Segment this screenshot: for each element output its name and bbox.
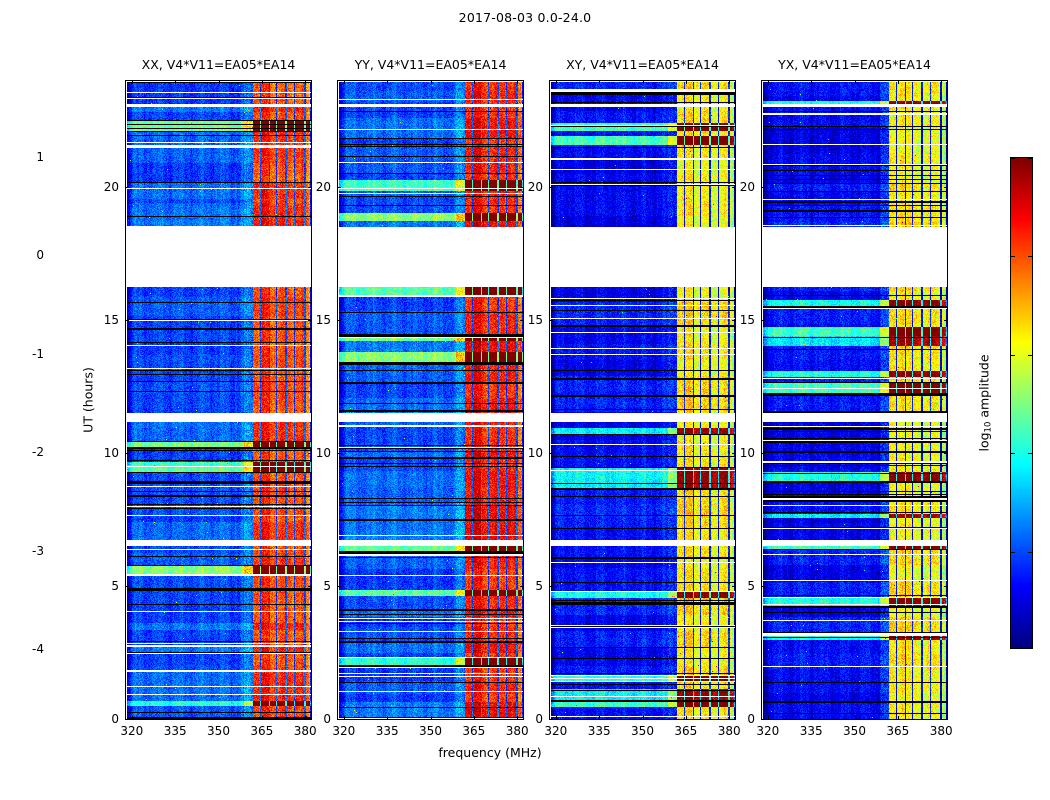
panel-frame-yx[interactable]	[761, 80, 948, 720]
x-axis-label: frequency (MHz)	[0, 745, 1050, 760]
x-axis-tick-label: 365	[674, 724, 697, 738]
colorbar-tick	[1028, 552, 1032, 553]
y-axis-tick	[944, 586, 948, 587]
x-axis-tick-label: 335	[164, 724, 187, 738]
x-axis-tick	[175, 716, 176, 720]
colorbar-tick-label: 0	[36, 248, 44, 262]
y-axis-tick	[337, 586, 341, 587]
colorbar-tick	[1028, 355, 1032, 356]
y-axis-tick-label: 0	[515, 712, 543, 726]
y-axis-tick-label: 0	[91, 712, 119, 726]
x-axis-tick	[599, 80, 600, 84]
panel-xy: XY, V4*V11=EA05*EA14 320335350365380	[549, 80, 736, 720]
colorbar-tick	[1011, 158, 1015, 159]
x-axis-tick	[643, 80, 644, 84]
y-axis-tick-label: 15	[91, 313, 119, 327]
x-axis-tick	[686, 80, 687, 84]
x-axis-tick-label: 320	[120, 724, 143, 738]
y-axis-tick	[125, 187, 129, 188]
x-axis-tick	[556, 716, 557, 720]
colorbar-tick	[1011, 355, 1015, 356]
y-axis-tick-label: 5	[515, 579, 543, 593]
x-axis-tick-label: 320	[544, 724, 567, 738]
x-axis-tick	[686, 716, 687, 720]
x-axis-tick-label: 320	[756, 724, 779, 738]
x-axis-tick-label: 365	[462, 724, 485, 738]
heatmap-image-xx	[127, 82, 312, 720]
y-axis-tick-label: 10	[91, 446, 119, 460]
x-axis-tick	[431, 80, 432, 84]
x-axis-tick-label: 380	[718, 724, 741, 738]
x-axis-tick	[898, 80, 899, 84]
colorbar-gradient	[1011, 158, 1032, 648]
y-axis-tick-label: 15	[303, 313, 331, 327]
colorbar-tick-label: -2	[32, 445, 44, 459]
figure-canvas: 2017-08-03 0.0-24.0 XX, V4*V11=EA05*EA14…	[0, 0, 1050, 800]
x-axis-tick	[262, 716, 263, 720]
x-axis-tick-label: 320	[332, 724, 355, 738]
x-axis-tick	[344, 80, 345, 84]
x-axis-tick	[768, 716, 769, 720]
x-axis-tick	[941, 716, 942, 720]
y-axis-tick-label: 0	[727, 712, 755, 726]
y-axis-tick-label: 20	[515, 180, 543, 194]
x-axis-tick	[344, 716, 345, 720]
x-axis-tick	[811, 80, 812, 84]
x-axis-tick-label: 380	[930, 724, 953, 738]
y-axis-tick	[944, 320, 948, 321]
y-axis-tick	[337, 320, 341, 321]
x-axis-tick	[219, 80, 220, 84]
panel-yx: YX, V4*V11=EA05*EA14 320335350365380	[761, 80, 948, 720]
y-axis-tick-label: 15	[727, 313, 755, 327]
y-axis-tick	[125, 453, 129, 454]
y-axis-tick	[337, 719, 341, 720]
heatmap-image-xy	[551, 82, 736, 720]
y-axis-tick-label: 10	[515, 446, 543, 460]
x-axis-tick	[855, 716, 856, 720]
panel-frame-yy[interactable]	[337, 80, 524, 720]
y-axis-tick	[549, 187, 553, 188]
x-axis-tick-label: 350	[843, 724, 866, 738]
y-axis-tick	[761, 719, 765, 720]
colorbar-tick-label: -4	[32, 642, 44, 656]
y-axis-tick-label: 20	[303, 180, 331, 194]
x-axis-tick	[643, 716, 644, 720]
x-axis-tick	[941, 80, 942, 84]
x-axis-tick-label: 335	[376, 724, 399, 738]
y-axis-tick-label: 10	[303, 446, 331, 460]
x-axis-tick	[811, 716, 812, 720]
x-axis-tick	[175, 80, 176, 84]
x-axis-tick	[132, 716, 133, 720]
y-axis-tick	[337, 453, 341, 454]
panel-title-xy: XY, V4*V11=EA05*EA14	[566, 57, 719, 72]
x-axis-tick	[517, 80, 518, 84]
colorbar-tick	[1028, 453, 1032, 454]
panel-frame-xy[interactable]	[549, 80, 736, 720]
y-axis-tick	[944, 719, 948, 720]
x-axis-tick	[305, 80, 306, 84]
panel-frame-xx[interactable]	[125, 80, 312, 720]
y-axis-label: UT (hours)	[81, 367, 96, 433]
x-axis-tick-label: 350	[207, 724, 230, 738]
y-axis-tick	[125, 586, 129, 587]
heatmap-image-yy	[339, 82, 524, 720]
x-axis-tick	[474, 80, 475, 84]
y-axis-tick	[549, 586, 553, 587]
y-axis-tick-label: 15	[515, 313, 543, 327]
y-axis-tick	[549, 453, 553, 454]
colorbar-tick	[1011, 256, 1015, 257]
panel-title-xx: XX, V4*V11=EA05*EA14	[142, 57, 296, 72]
y-axis-tick-label: 5	[91, 579, 119, 593]
x-axis-tick	[474, 716, 475, 720]
colorbar-tick-label: -3	[32, 544, 44, 558]
colorbar-tick-label: 1	[36, 150, 44, 164]
y-axis-tick	[337, 187, 341, 188]
x-axis-tick-label: 380	[506, 724, 529, 738]
heatmap-image-yx	[763, 82, 948, 720]
y-axis-tick-label: 20	[727, 180, 755, 194]
colorbar-tick	[1011, 552, 1015, 553]
x-axis-tick	[431, 716, 432, 720]
colorbar[interactable]	[1010, 157, 1033, 649]
y-axis-tick-label: 20	[91, 180, 119, 194]
y-axis-tick-label: 5	[303, 579, 331, 593]
colorbar-tick	[1028, 158, 1032, 159]
x-axis-tick	[387, 80, 388, 84]
x-axis-tick-label: 350	[419, 724, 442, 738]
colorbar-tick	[1011, 453, 1015, 454]
x-axis-tick-label: 365	[886, 724, 909, 738]
panel-xx: XX, V4*V11=EA05*EA14 320335350365380	[125, 80, 312, 720]
x-axis-tick-label: 365	[250, 724, 273, 738]
y-axis-tick	[761, 187, 765, 188]
colorbar-tick-label: -1	[32, 347, 44, 361]
x-axis-tick-label: 335	[800, 724, 823, 738]
x-axis-tick	[262, 80, 263, 84]
colorbar-label: log10 amplitude	[977, 354, 994, 451]
x-axis-label-text: frequency (MHz)	[438, 745, 541, 760]
y-axis-tick	[125, 320, 129, 321]
x-axis-tick	[729, 80, 730, 84]
x-axis-tick	[898, 716, 899, 720]
y-axis-tick-label: 10	[727, 446, 755, 460]
y-axis-tick	[549, 320, 553, 321]
y-axis-tick	[125, 719, 129, 720]
y-axis-tick	[944, 453, 948, 454]
x-axis-tick	[132, 80, 133, 84]
x-axis-tick	[387, 716, 388, 720]
x-axis-tick-label: 380	[294, 724, 317, 738]
y-axis-tick	[761, 453, 765, 454]
y-axis-tick-label: 5	[727, 579, 755, 593]
y-axis-tick	[549, 719, 553, 720]
y-axis-tick	[761, 320, 765, 321]
x-axis-tick	[855, 80, 856, 84]
figure-suptitle: 2017-08-03 0.0-24.0	[0, 10, 1050, 25]
y-axis-tick-label: 0	[303, 712, 331, 726]
y-axis-tick	[761, 586, 765, 587]
y-axis-tick	[944, 187, 948, 188]
colorbar-tick	[1028, 256, 1032, 257]
x-axis-tick	[768, 80, 769, 84]
x-axis-tick-label: 350	[631, 724, 654, 738]
panel-title-yx: YX, V4*V11=EA05*EA14	[778, 57, 931, 72]
x-axis-tick-label: 335	[588, 724, 611, 738]
panel-yy: YY, V4*V11=EA05*EA14 320335350365380	[337, 80, 524, 720]
x-axis-tick	[556, 80, 557, 84]
panel-title-yy: YY, V4*V11=EA05*EA14	[355, 57, 507, 72]
x-axis-tick	[219, 716, 220, 720]
x-axis-tick	[599, 716, 600, 720]
